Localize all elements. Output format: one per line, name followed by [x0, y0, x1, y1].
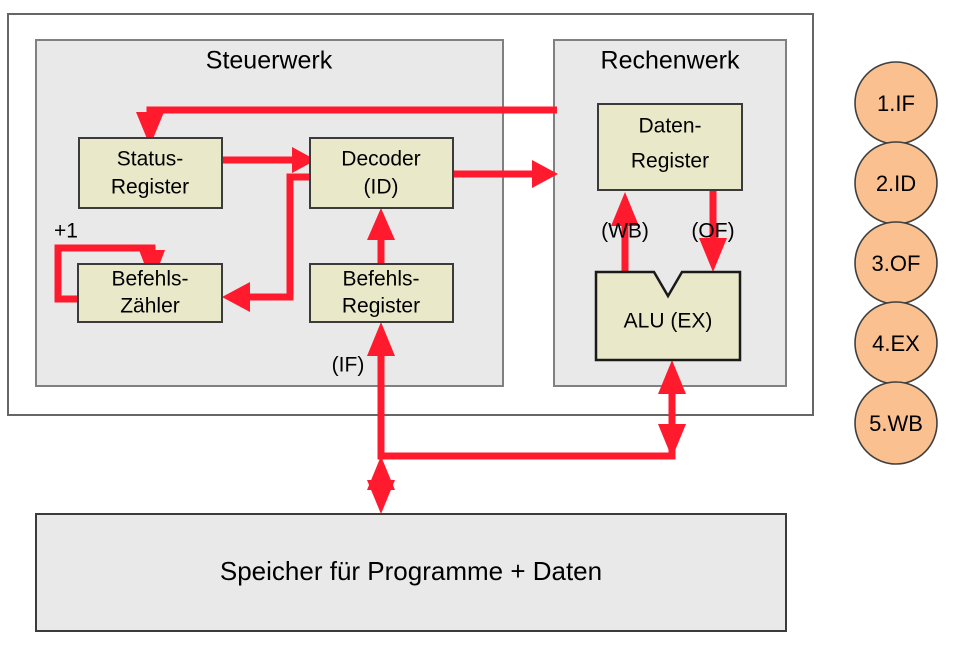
befehls-zaehler-line2: Zähler	[120, 295, 180, 318]
stage-circle-3: 3.OF	[855, 222, 937, 304]
daten-register-line1: Daten-	[638, 115, 701, 138]
operand-fetch-label: (OF)	[691, 220, 734, 243]
increment-label: +1	[54, 220, 78, 243]
component-status-register: Status- Register	[79, 138, 222, 208]
component-befehls-zaehler: Befehls- Zähler	[78, 264, 222, 322]
pipeline-stages: 1.IF 2.ID 3.OF 4.EX 5.WB	[855, 62, 937, 464]
decoder-line1: Decoder	[341, 148, 420, 171]
decoder-line2: (ID)	[364, 176, 399, 199]
status-register-line2: Register	[111, 176, 189, 199]
arrowhead-memory-in	[367, 480, 395, 514]
cpu-block-diagram: Steuerwerk Rechenwerk +1 (WB)	[0, 0, 959, 649]
stage-circle-2: 2.ID	[855, 142, 937, 224]
writeback-label: (WB)	[601, 220, 649, 243]
befehls-register-line2: Register	[342, 295, 420, 318]
stage-circle-4: 4.EX	[855, 302, 937, 384]
memory-block: Speicher für Programme + Daten	[36, 514, 786, 631]
status-register-line1: Status-	[117, 148, 184, 171]
component-befehls-register: Befehls- Register	[310, 264, 453, 322]
daten-register-line2: Register	[631, 150, 709, 173]
stage-label-2: 2.ID	[876, 171, 916, 196]
stage-label-5: 5.WB	[869, 411, 923, 436]
memory-label: Speicher für Programme + Daten	[220, 556, 602, 586]
stage-label-4: 4.EX	[872, 331, 920, 356]
stage-circle-5: 5.WB	[855, 382, 937, 464]
befehls-zaehler-line1: Befehls-	[111, 268, 188, 291]
rechenwerk-title: Rechenwerk	[601, 47, 740, 75]
steuerwerk-title: Steuerwerk	[206, 47, 333, 75]
befehls-register-line1: Befehls-	[342, 268, 419, 291]
stage-circle-1: 1.IF	[855, 62, 937, 144]
stage-label-3: 3.OF	[872, 251, 921, 276]
alu-label: ALU (EX)	[624, 310, 713, 333]
stage-label-1: 1.IF	[877, 91, 915, 116]
component-daten-register: Daten- Register	[598, 104, 742, 190]
steuerwerk-unit	[36, 40, 503, 386]
instruction-fetch-label: (IF)	[332, 354, 365, 377]
component-decoder: Decoder (ID)	[310, 138, 453, 208]
